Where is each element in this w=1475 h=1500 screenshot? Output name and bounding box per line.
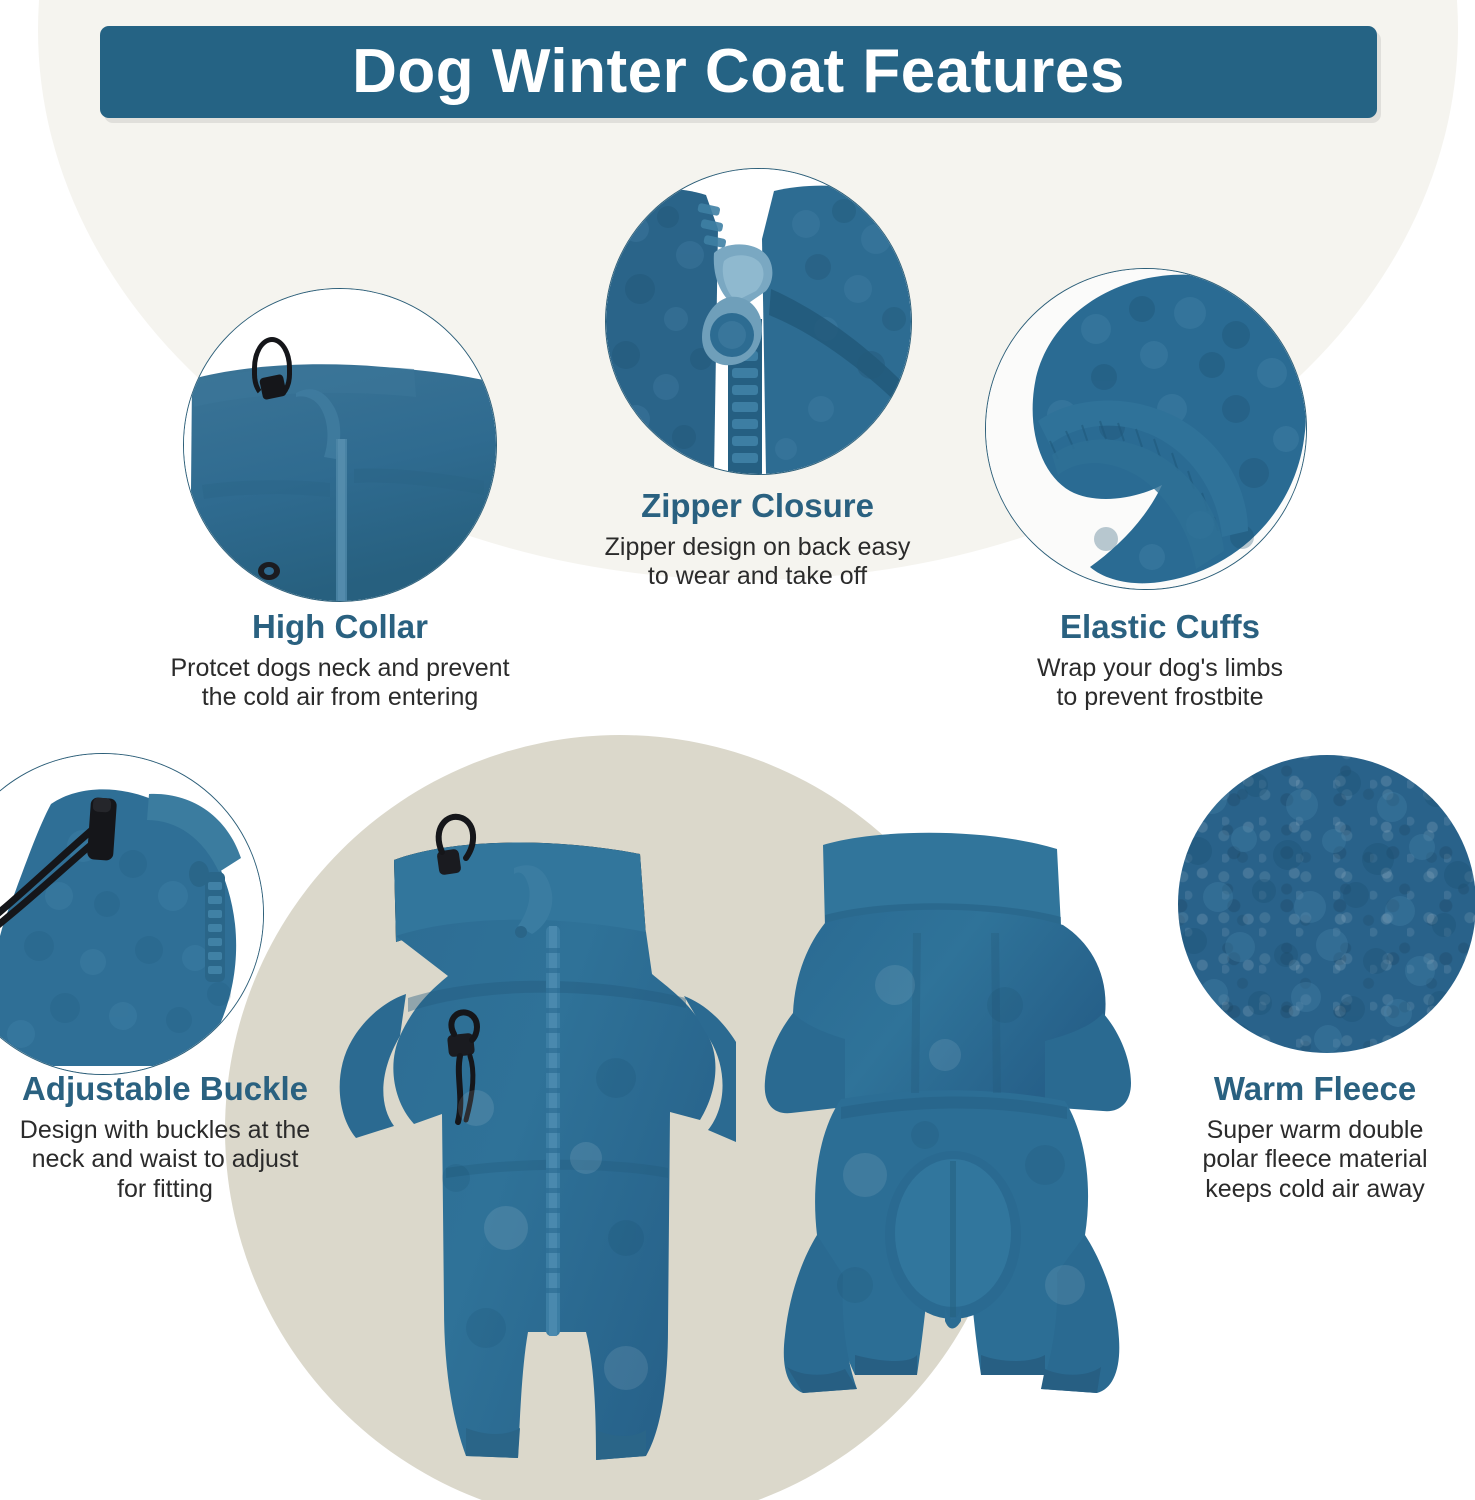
feature-desc-line: for fitting	[0, 1175, 330, 1205]
adjustable-buckle-photo	[0, 753, 264, 1075]
feature-desc-line: Wrap your dog's limbs	[930, 654, 1390, 684]
elastic-cuffs-photo	[985, 268, 1307, 590]
page-title: Dog Winter Coat Features	[352, 41, 1125, 103]
feature-title: Zipper Closure	[525, 487, 990, 525]
dog-coat-front-illustration	[296, 808, 736, 1498]
feature-description: Super warm double polar fleece material …	[1155, 1116, 1475, 1205]
adjustable-buckle-illustration	[0, 754, 263, 1074]
feature-title: Elastic Cuffs	[930, 608, 1390, 646]
feature-description: Design with buckles at the neck and wais…	[0, 1116, 330, 1205]
feature-desc-line: Design with buckles at the	[0, 1116, 330, 1146]
elastic-cuff-illustration	[986, 269, 1306, 589]
high-collar-photo	[183, 288, 497, 602]
feature-elastic-cuffs: Elastic Cuffs Wrap your dog's limbs to p…	[930, 608, 1390, 713]
feature-desc-line: to wear and take off	[525, 562, 990, 592]
infographic-page: Dog Winter Coat Features	[0, 0, 1475, 1500]
zipper-illustration	[606, 169, 911, 474]
feature-description: Wrap your dog's limbs to prevent frostbi…	[930, 654, 1390, 713]
feature-title: High Collar	[110, 608, 570, 646]
title-banner: Dog Winter Coat Features	[100, 26, 1377, 118]
feature-desc-line: keeps cold air away	[1155, 1175, 1475, 1205]
feature-desc-line: Zipper design on back easy	[525, 533, 990, 563]
drawstring-loop-icon	[252, 337, 292, 399]
feature-warm-fleece: Warm Fleece Super warm double polar flee…	[1155, 1070, 1475, 1204]
feature-desc-line: neck and waist to adjust	[0, 1145, 330, 1175]
feature-description: Protcet dogs neck and prevent the cold a…	[110, 654, 570, 713]
feature-title: Warm Fleece	[1155, 1070, 1475, 1108]
feature-desc-line: Protcet dogs neck and prevent	[110, 654, 570, 684]
feature-desc-line: polar fleece material	[1155, 1145, 1475, 1175]
feature-adjustable-buckle: Adjustable Buckle Design with buckles at…	[0, 1070, 330, 1204]
product-back-view	[745, 815, 1145, 1495]
feature-title: Adjustable Buckle	[0, 1070, 330, 1108]
product-front-view	[296, 808, 736, 1498]
warm-fleece-photo	[1178, 755, 1475, 1053]
feature-zipper-closure: Zipper Closure Zipper design on back eas…	[525, 487, 990, 592]
feature-desc-line: the cold air from entering	[110, 683, 570, 713]
feature-desc-line: to prevent frostbite	[930, 683, 1390, 713]
zipper-closure-photo	[605, 168, 912, 475]
feature-description: Zipper design on back easy to wear and t…	[525, 533, 990, 592]
feature-desc-line: Super warm double	[1155, 1116, 1475, 1146]
warm-fleece-illustration	[1178, 755, 1475, 1053]
feature-high-collar: High Collar Protcet dogs neck and preven…	[110, 608, 570, 713]
dog-coat-back-illustration	[745, 815, 1145, 1495]
high-collar-illustration	[184, 289, 496, 601]
